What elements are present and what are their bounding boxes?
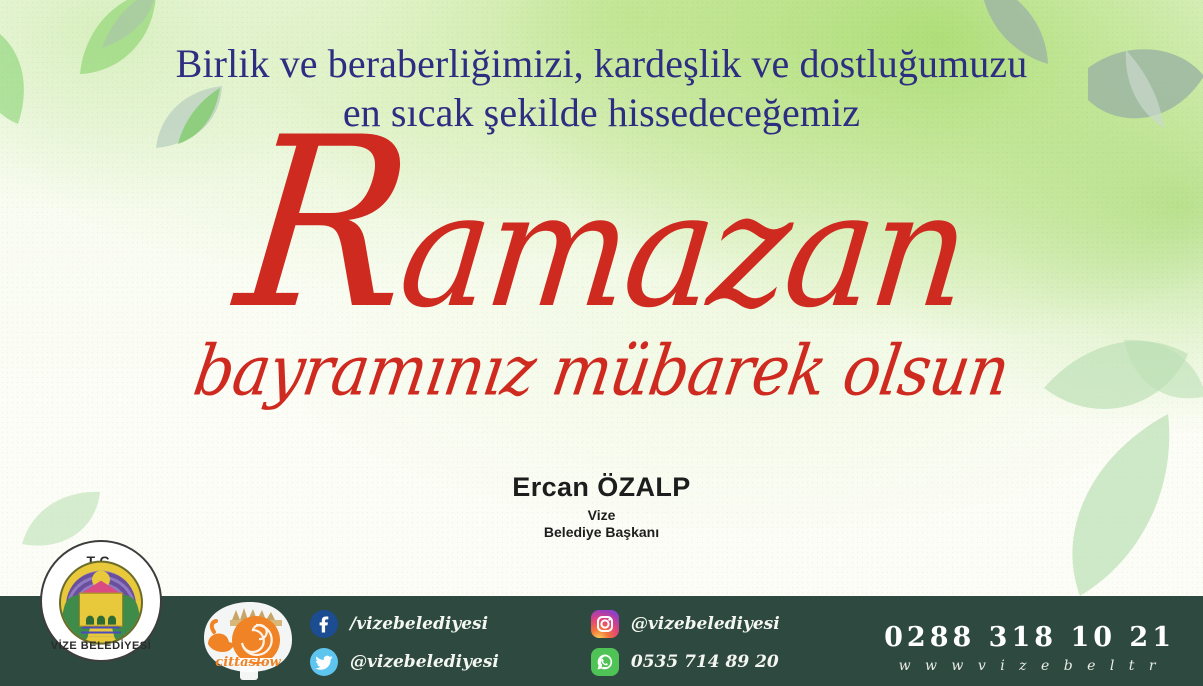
social-row-whatsapp[interactable]: 0535 714 89 20	[591, 648, 780, 676]
greeting-subtitle: bayramınız mübarek olsun	[0, 330, 1203, 412]
greeting-main-capital: R	[227, 88, 419, 361]
twitter-icon[interactable]	[310, 648, 338, 676]
social-links: /vizebelediyesi @vizebelediyesi @vizebel…	[310, 610, 780, 676]
social-column-left: /vizebelediyesi @vizebelediyesi	[310, 610, 499, 676]
signature-city: Vize	[0, 507, 1203, 523]
signature-title: Belediye Başkanı	[0, 524, 1203, 540]
greeting-block: Ramazan bayramınız mübarek olsun	[0, 175, 1203, 407]
instagram-handle[interactable]: @vizebelediyesi	[631, 614, 780, 634]
cittaslow-wordmark: cittaslow	[215, 655, 281, 670]
phone-number[interactable]: 0288 318 10 21	[884, 622, 1175, 653]
seal-around-text: VİZE BELEDİYESİ	[42, 640, 160, 652]
social-row-instagram[interactable]: @vizebelediyesi	[591, 610, 780, 638]
seal-arches-icon	[86, 616, 116, 625]
seal-emblem	[59, 561, 143, 645]
seal-water-waves-icon	[81, 627, 121, 637]
social-column-right: @vizebelediyesi 0535 714 89 20	[591, 610, 780, 676]
facebook-icon[interactable]	[310, 610, 338, 638]
headline-line-2: en sıcak şekilde hissedeceğemiz	[0, 89, 1203, 138]
ramazan-greeting-poster: Birlik ve beraberliğimizi, kardeşlik ve …	[0, 0, 1203, 686]
instagram-icon[interactable]	[591, 610, 619, 638]
facebook-handle[interactable]: /vizebelediyesi	[350, 614, 488, 634]
greeting-main: Ramazan	[0, 170, 1203, 332]
contact-block: 0288 318 10 21 w w w v i z e b e l t r	[884, 622, 1175, 674]
signature-name: Ercan ÖZALP	[0, 472, 1203, 503]
social-row-twitter[interactable]: @vizebelediyesi	[310, 648, 499, 676]
headline-line-1: Birlik ve beraberliğimizi, kardeşlik ve …	[0, 40, 1203, 89]
greeting-main-rest: amazan	[392, 159, 974, 343]
twitter-handle[interactable]: @vizebelediyesi	[350, 652, 499, 672]
headline-text: Birlik ve beraberliğimizi, kardeşlik ve …	[0, 40, 1203, 138]
whatsapp-icon[interactable]	[591, 648, 619, 676]
cittaslow-logo: cittaslow	[196, 598, 300, 682]
whatsapp-number[interactable]: 0535 714 89 20	[631, 652, 779, 672]
social-row-facebook[interactable]: /vizebelediyesi	[310, 610, 499, 638]
website-url[interactable]: w w w v i z e b e l t r	[884, 658, 1175, 674]
vize-belediyesi-seal-logo: T.C. VİZE BELEDİYESİ	[40, 540, 162, 662]
signature-block: Ercan ÖZALP Vize Belediye Başkanı	[0, 472, 1203, 540]
